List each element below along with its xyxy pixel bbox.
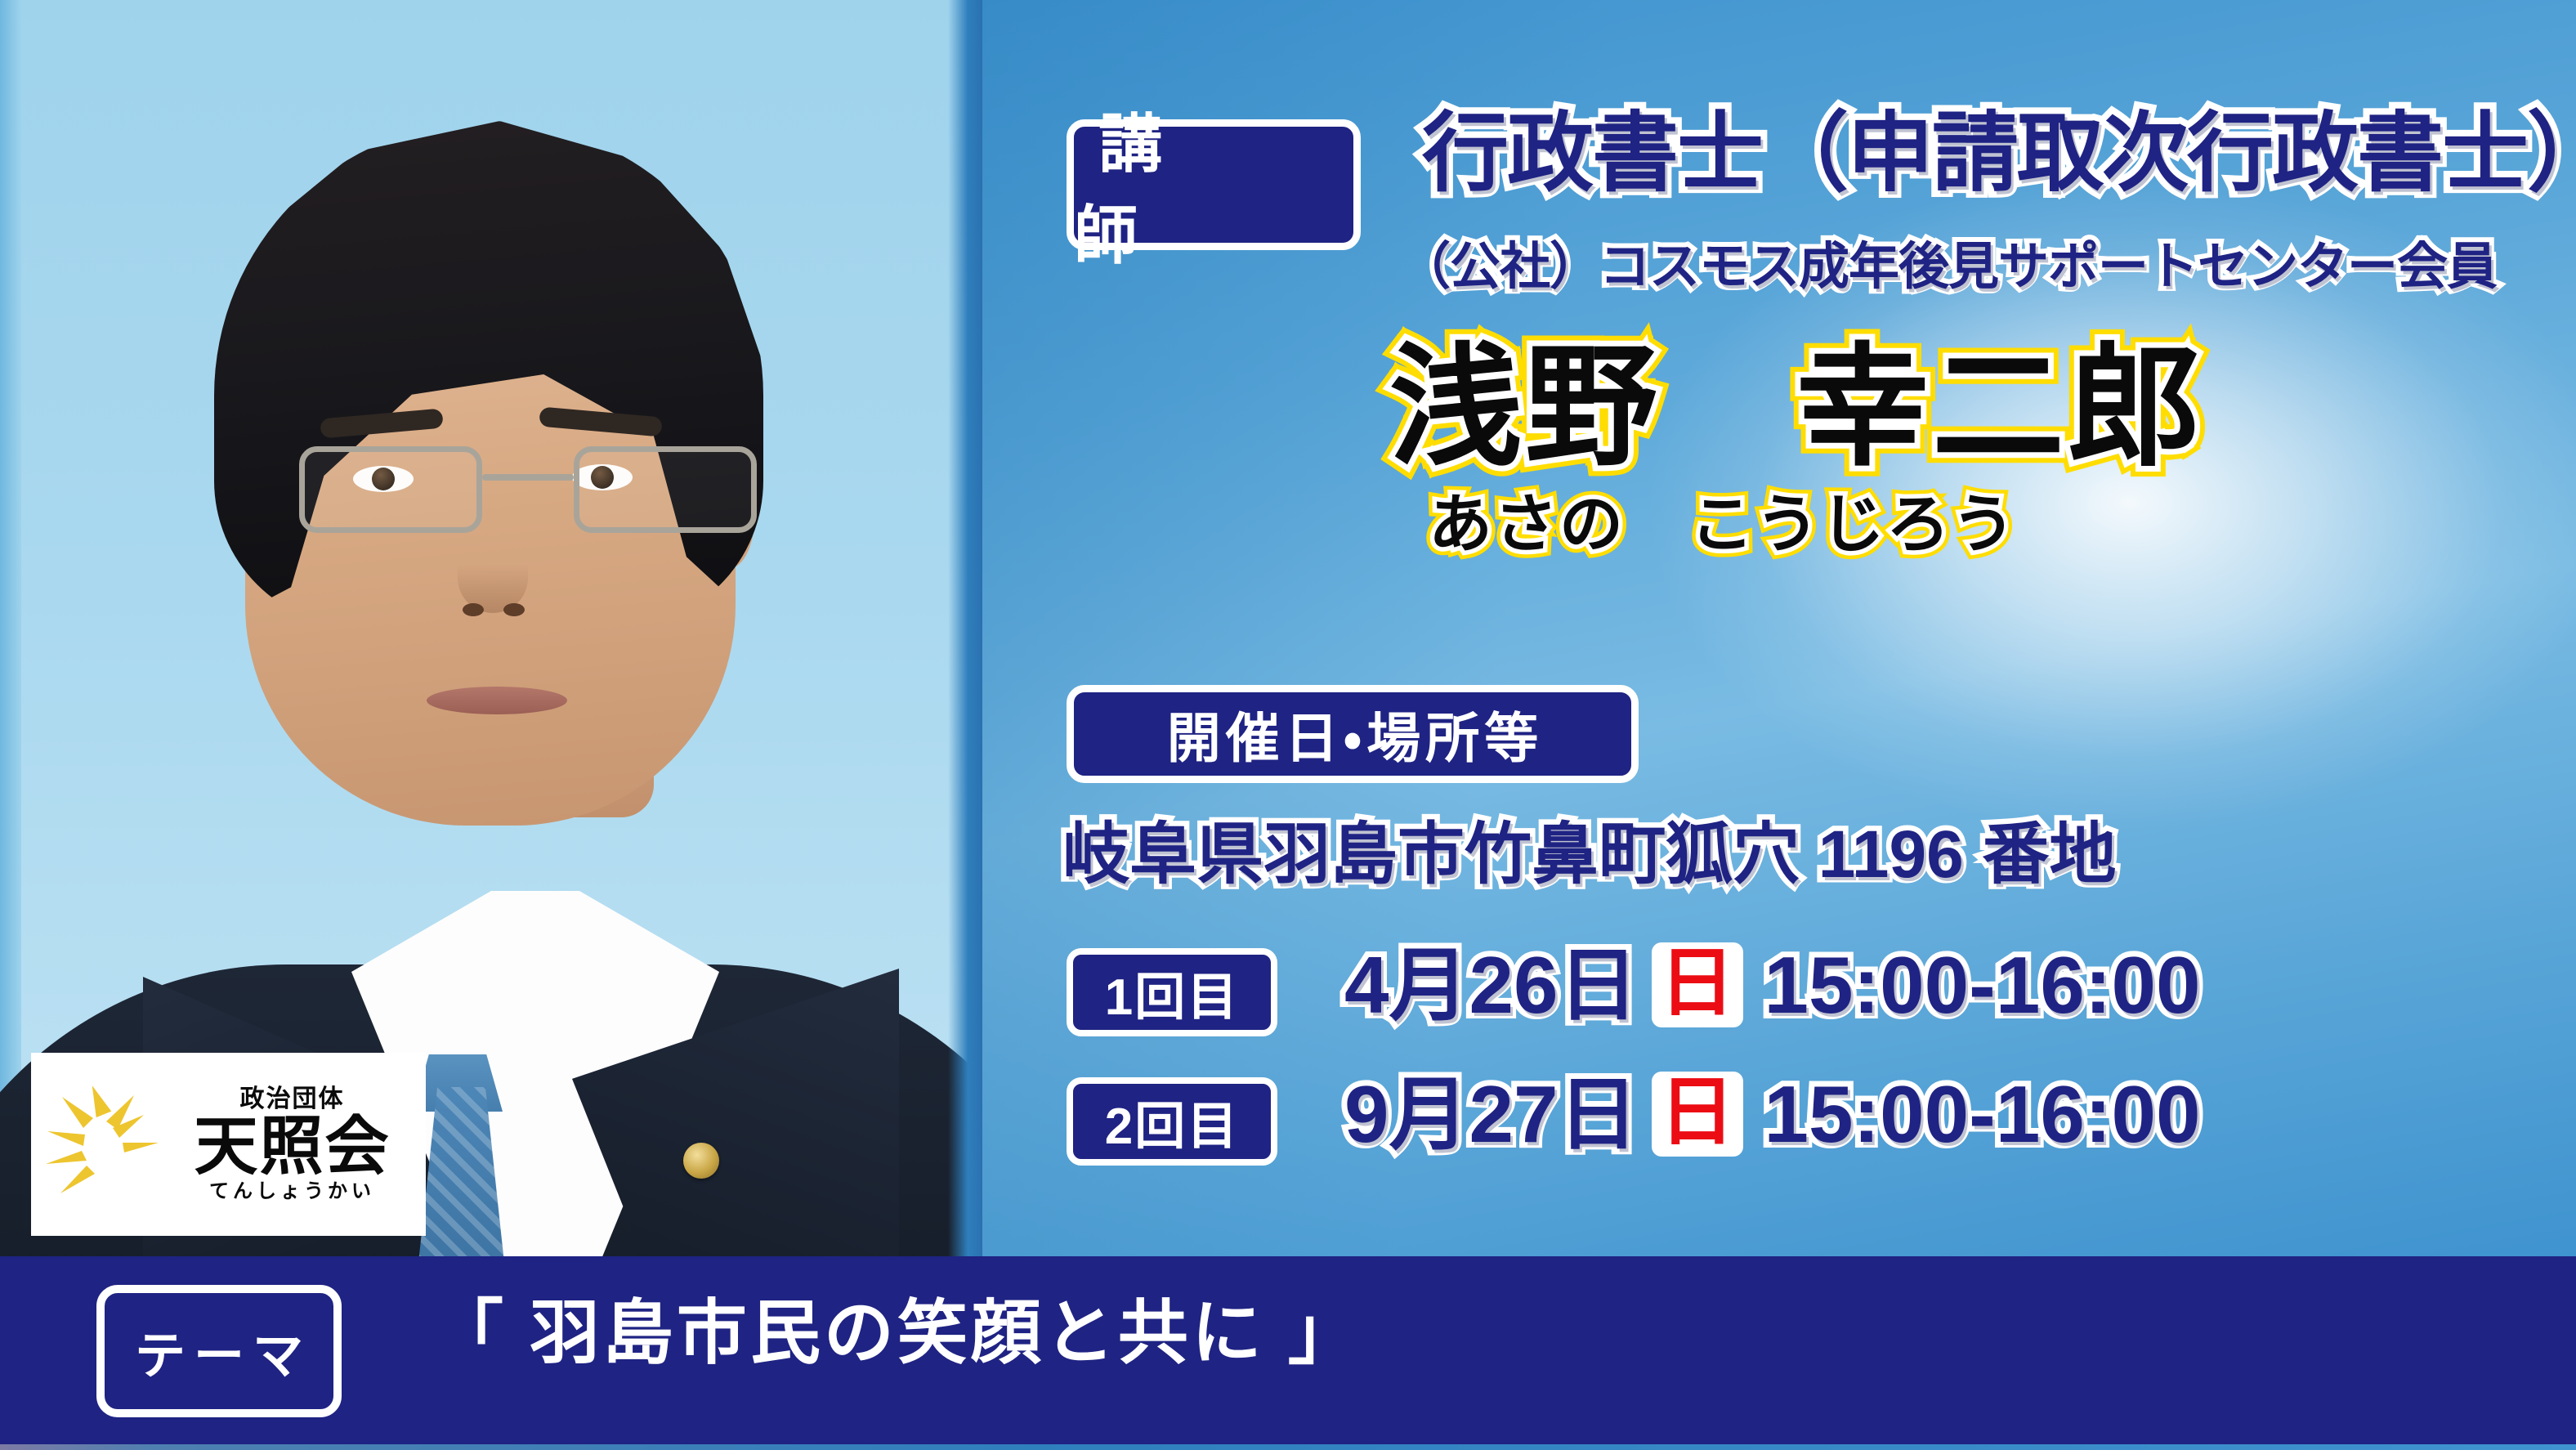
- speaker-name: 浅野 幸二郎 浅野 幸二郎: [1389, 342, 2203, 474]
- portrait-nostril-left: [463, 603, 484, 616]
- logo-ruby: てんしょうかい: [209, 1182, 375, 1202]
- logo-name: 天照会: [194, 1115, 390, 1179]
- theme-text: 「 羽島市民の笑顔と共に 」: [433, 1298, 1362, 1368]
- venue-address: 岐阜県羽島市竹鼻町狐穴 1196 番地: [1062, 821, 2116, 888]
- session-2-weekday: 日: [1652, 1072, 1743, 1157]
- session-2-row: 9月27日 日 15:00-16:00: [1344, 1072, 2200, 1157]
- sun-icon: [42, 1079, 163, 1210]
- speaker-title-main: 行政書士（申請取次行政書士）: [1422, 110, 2576, 197]
- logo-kicker: 政治団体: [240, 1087, 345, 1112]
- session-1-date: 4月26日: [1344, 945, 1639, 1025]
- session-1-time: 15:00-16:00: [1764, 945, 2201, 1025]
- session-1-row: 4月26日 日 15:00-16:00: [1344, 942, 2200, 1027]
- poster-root: 政治団体 天照会 てんしょうかい 講 師 行政書士（申請取次行政書士） （公社）…: [0, 0, 2576, 1450]
- theme-badge: テーマ: [96, 1285, 342, 1417]
- session-2-time: 15:00-16:00: [1764, 1074, 2201, 1154]
- portrait-nostril-right: [503, 603, 525, 616]
- portrait-lapel-pin: [683, 1143, 719, 1179]
- glasses-bridge: [482, 474, 574, 481]
- logo-text-group: 政治団体 天照会 てんしょうかい: [163, 1087, 426, 1202]
- organization-logo: 政治団体 天照会 てんしょうかい: [31, 1053, 426, 1236]
- session-2-date: 9月27日: [1344, 1074, 1639, 1154]
- bottom-edge-strip: [0, 1444, 2576, 1450]
- session-1-badge: 1回目: [1067, 948, 1277, 1036]
- session-1-weekday: 日: [1652, 942, 1743, 1027]
- session-2-badge: 2回目: [1067, 1077, 1277, 1166]
- speaker-name-block: 浅野 幸二郎 浅野 幸二郎 あさの こうじろう あさの こうじろう: [1389, 342, 2203, 556]
- speaker-name-ruby: あさの こうじろう あさの こうじろう: [1429, 492, 2203, 556]
- speaker-badge: 講 師: [1067, 119, 1361, 250]
- speaker-name-ruby-inner: あさの こうじろう: [1429, 492, 2017, 556]
- speaker-name-inner: 浅野 幸二郎: [1389, 342, 2203, 474]
- photo-right-edge-stripe: [948, 0, 982, 1256]
- glasses-lens-left: [299, 446, 482, 533]
- speaker-title-sub: （公社）コスモス成年後見サポートセンター会員: [1400, 242, 2497, 293]
- portrait-mouth: [427, 687, 567, 714]
- glasses-lens-right: [574, 446, 757, 533]
- schedule-badge: 開催日・場所等: [1067, 685, 1639, 783]
- portrait-glasses: [299, 446, 757, 536]
